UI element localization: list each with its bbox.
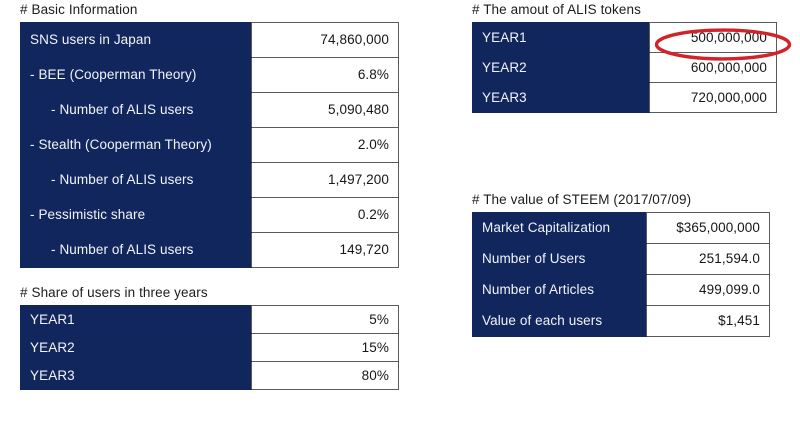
row-value: 720,000,000 <box>650 83 777 113</box>
row-value: 0.2% <box>252 198 399 233</box>
row-value: 600,000,000 <box>650 53 777 83</box>
row-label: Market Capitalization <box>473 213 647 244</box>
steem-value-block: # The value of STEEM (2017/07/09) Market… <box>472 192 770 337</box>
table-row: - Pessimistic share0.2% <box>21 198 399 233</box>
basic-information-table-body: SNS users in Japan74,860,000- BEE (Coope… <box>21 23 399 268</box>
table-row: - Number of ALIS users1,497,200 <box>21 163 399 198</box>
table-row: YEAR15% <box>21 306 399 334</box>
row-value: 149,720 <box>252 233 399 268</box>
row-label: YEAR1 <box>21 306 252 334</box>
alis-tokens-block: # The amout of ALIS tokens YEAR1500,000,… <box>472 2 777 113</box>
row-value: 74,860,000 <box>252 23 399 58</box>
row-value: 1,497,200 <box>252 163 399 198</box>
row-label: YEAR3 <box>473 83 650 113</box>
row-label: Number of Articles <box>473 275 647 306</box>
share-of-users-table: YEAR15%YEAR215%YEAR380% <box>20 305 399 390</box>
row-label: Number of Users <box>473 244 647 275</box>
basic-information-table: SNS users in Japan74,860,000- BEE (Coope… <box>20 22 399 268</box>
table-row: YEAR1500,000,000 <box>473 23 777 53</box>
share-of-users-block: # Share of users in three years YEAR15%Y… <box>20 285 399 390</box>
row-value: 2.0% <box>252 128 399 163</box>
row-label: - Number of ALIS users <box>21 163 252 198</box>
row-value: 5% <box>252 306 399 334</box>
row-label: - Pessimistic share <box>21 198 252 233</box>
table-row: Value of each users$1,451 <box>473 306 770 337</box>
table-row: - Number of ALIS users5,090,480 <box>21 93 399 128</box>
row-label: YEAR2 <box>473 53 650 83</box>
row-label: - BEE (Cooperman Theory) <box>21 58 252 93</box>
row-label: YEAR1 <box>473 23 650 53</box>
row-label: - Number of ALIS users <box>21 93 252 128</box>
basic-information-title: # Basic Information <box>20 2 399 18</box>
share-of-users-table-body: YEAR15%YEAR215%YEAR380% <box>21 306 399 390</box>
row-label: - Stealth (Cooperman Theory) <box>21 128 252 163</box>
row-value: $365,000,000 <box>647 213 770 244</box>
row-value: 500,000,000 <box>650 23 777 53</box>
row-value: 5,090,480 <box>252 93 399 128</box>
steem-value-table: Market Capitalization$365,000,000Number … <box>472 212 770 337</box>
table-row: Number of Articles499,099.0 <box>473 275 770 306</box>
table-row: YEAR380% <box>21 362 399 390</box>
row-label: YEAR2 <box>21 334 252 362</box>
alis-tokens-title: # The amout of ALIS tokens <box>472 2 777 18</box>
table-row: - Stealth (Cooperman Theory)2.0% <box>21 128 399 163</box>
row-label: Value of each users <box>473 306 647 337</box>
alis-tokens-table: YEAR1500,000,000YEAR2600,000,000YEAR3720… <box>472 22 777 113</box>
basic-information-block: # Basic Information SNS users in Japan74… <box>20 2 399 268</box>
row-value: 499,099.0 <box>647 275 770 306</box>
table-row: SNS users in Japan74,860,000 <box>21 23 399 58</box>
share-of-users-title: # Share of users in three years <box>20 285 399 301</box>
table-row: YEAR2600,000,000 <box>473 53 777 83</box>
row-label: SNS users in Japan <box>21 23 252 58</box>
row-value: 15% <box>252 334 399 362</box>
alis-tokens-table-body: YEAR1500,000,000YEAR2600,000,000YEAR3720… <box>473 23 777 113</box>
steem-value-title: # The value of STEEM (2017/07/09) <box>472 192 770 208</box>
table-row: YEAR3720,000,000 <box>473 83 777 113</box>
steem-value-table-body: Market Capitalization$365,000,000Number … <box>473 213 770 337</box>
row-value: 251,594.0 <box>647 244 770 275</box>
table-row: Market Capitalization$365,000,000 <box>473 213 770 244</box>
row-value: 80% <box>252 362 399 390</box>
row-value: 6.8% <box>252 58 399 93</box>
row-value: $1,451 <box>647 306 770 337</box>
table-row: YEAR215% <box>21 334 399 362</box>
table-row: - Number of ALIS users149,720 <box>21 233 399 268</box>
row-label: YEAR3 <box>21 362 252 390</box>
table-row: - BEE (Cooperman Theory)6.8% <box>21 58 399 93</box>
row-label: - Number of ALIS users <box>21 233 252 268</box>
table-row: Number of Users251,594.0 <box>473 244 770 275</box>
